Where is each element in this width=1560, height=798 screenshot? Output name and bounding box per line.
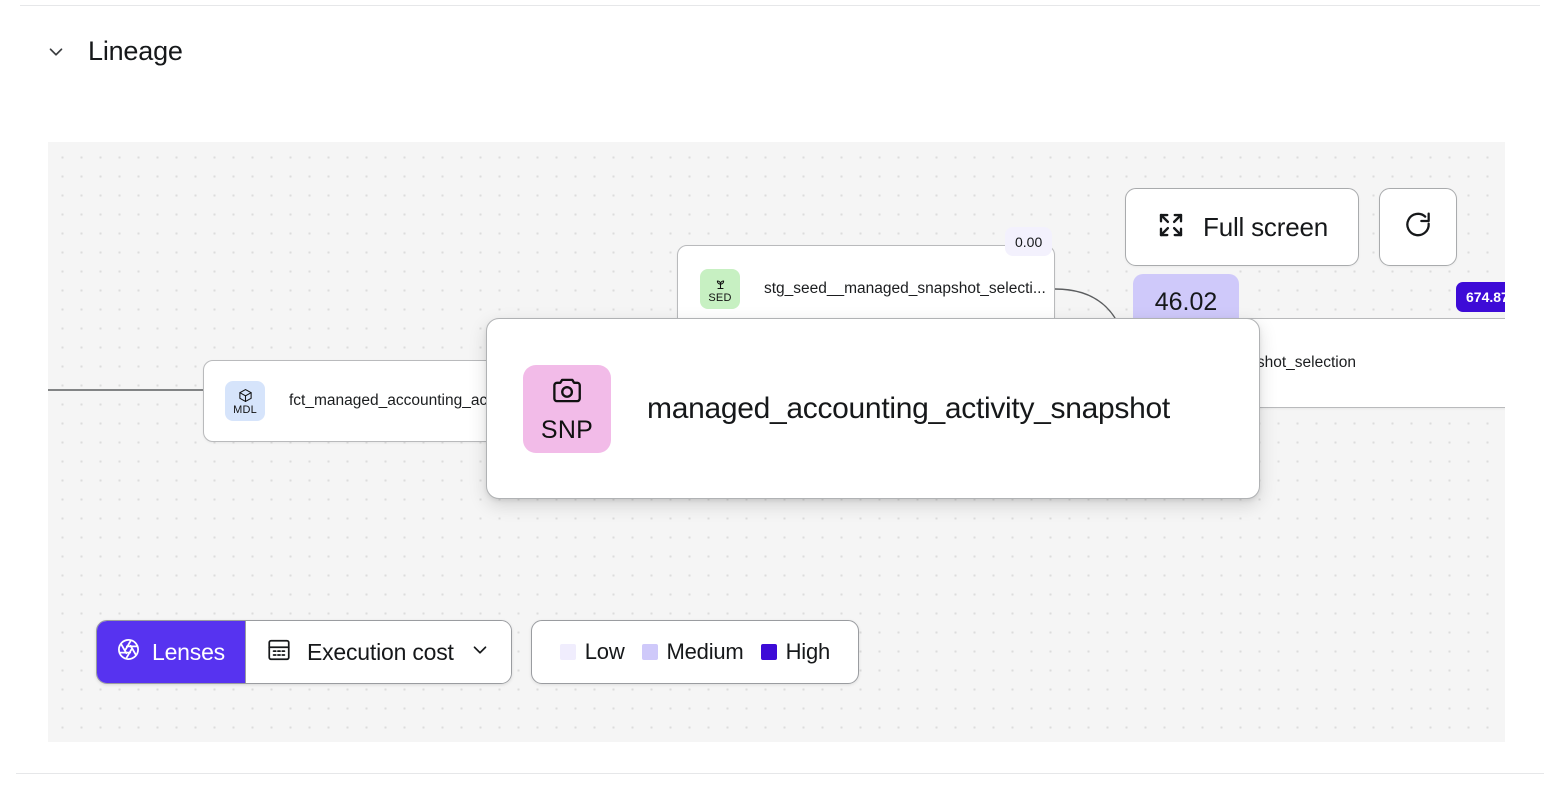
legend-item-high: High — [761, 639, 830, 665]
chevron-down-icon[interactable] — [44, 40, 68, 64]
node-type-badge-snp: SNP — [523, 365, 611, 453]
cost-legend: Low Medium High — [531, 620, 859, 684]
lens-selector-group: Lenses Execution cost — [96, 620, 512, 684]
chevron-down-icon[interactable] — [469, 639, 491, 666]
page-title: Lineage — [88, 38, 183, 65]
legend-label-medium: Medium — [667, 639, 744, 665]
expand-arrows-icon — [1156, 210, 1186, 245]
seedling-icon — [713, 275, 728, 292]
lineage-section-header: Lineage — [44, 38, 183, 65]
cube-icon — [238, 387, 253, 404]
node-type-code: SNP — [541, 416, 593, 445]
execution-cost-dropdown[interactable]: Execution cost — [245, 621, 511, 683]
refresh-button[interactable] — [1379, 188, 1457, 266]
legend-label-high: High — [786, 639, 830, 665]
node-type-code: MDL — [233, 404, 257, 416]
full-screen-label: Full screen — [1203, 212, 1328, 243]
refresh-icon — [1402, 209, 1434, 246]
bottom-divider — [16, 773, 1544, 774]
node-label: stg_seed__managed_snapshot_selecti... — [764, 280, 1046, 298]
lineage-panel: Lineage SED stg — [0, 0, 1560, 798]
aperture-icon — [116, 637, 141, 667]
graph-toolbar: Full screen — [1125, 188, 1457, 266]
top-divider — [20, 5, 1540, 6]
legend-swatch-low — [560, 644, 576, 660]
node-type-code: SED — [708, 292, 731, 304]
full-screen-button[interactable]: Full screen — [1125, 188, 1359, 266]
table-icon — [266, 637, 292, 668]
cost-badge-high: 674.87 — [1456, 282, 1505, 312]
node-label: fct_managed_accounting_act — [289, 392, 492, 410]
cost-badge-low: 0.00 — [1005, 227, 1052, 256]
legend-item-low: Low — [560, 639, 625, 665]
selected-lens-label: Execution cost — [307, 639, 454, 666]
lenses-label: Lenses — [152, 639, 225, 666]
tooltip-node-name: managed_accounting_activity_snapshot — [647, 392, 1170, 426]
camera-icon — [550, 373, 585, 413]
node-type-badge-sed: SED — [700, 269, 740, 309]
legend-label-low: Low — [585, 639, 625, 665]
legend-item-medium: Medium — [642, 639, 744, 665]
legend-swatch-high — [761, 644, 777, 660]
legend-swatch-medium — [642, 644, 658, 660]
lenses-button[interactable]: Lenses — [97, 621, 245, 683]
node-type-badge-mdl: MDL — [225, 381, 265, 421]
lens-controls: Lenses Execution cost — [96, 620, 859, 684]
node-hover-tooltip: SNP managed_accounting_activity_snapshot — [486, 318, 1260, 499]
